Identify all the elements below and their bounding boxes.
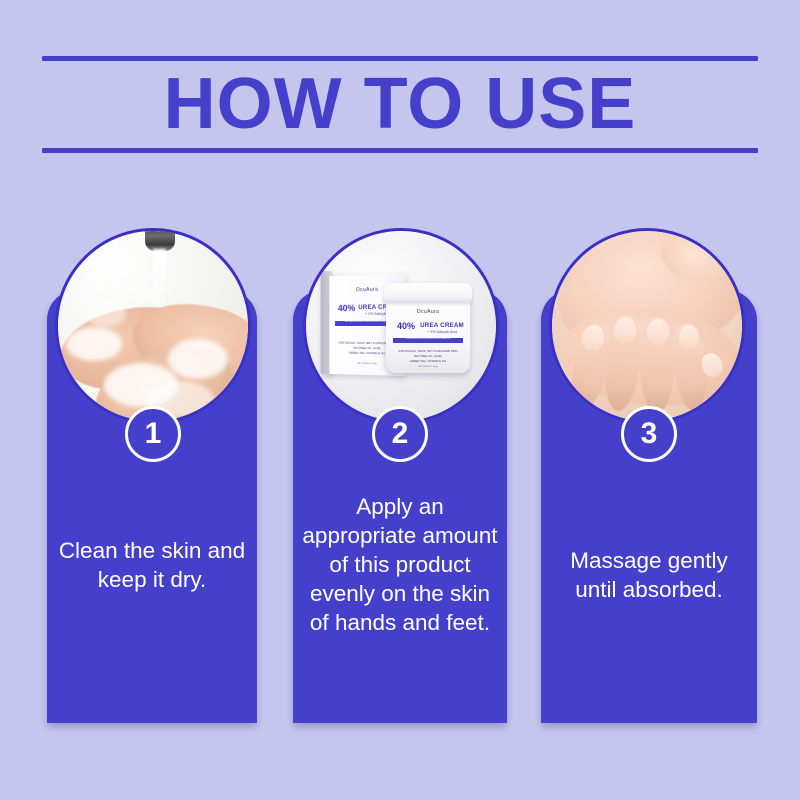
foam-blob <box>86 301 126 327</box>
fingernail <box>647 319 669 345</box>
wash-scene <box>58 231 248 421</box>
foam-blob <box>66 327 122 361</box>
step-caption-1: Clean the skin and keep it dry. <box>57 536 247 594</box>
step-number-badge-1: 1 <box>125 406 181 462</box>
jar-net-weight: NET WEIGHT 100g <box>389 366 467 368</box>
step-number-badge-2: 2 <box>372 406 428 462</box>
jar-brand-text: OcuAura <box>386 309 470 315</box>
step-image-1 <box>55 228 251 424</box>
box-percent-text: 40% <box>335 303 358 313</box>
jar-subtitle: + 2% Salicylic Acid <box>417 330 467 334</box>
jar-band-text: INTENSIVE MOISTURIZING & EXFOLIATING <box>393 338 463 340</box>
step-caption-3: Massage gently until absorbed. <box>551 546 747 604</box>
jar-product-name: UREA CREAM <box>417 322 467 329</box>
step-caption-2: Apply an appropriate amount of this prod… <box>299 492 501 637</box>
wash-hands-illustration <box>58 231 248 421</box>
jar-benefits-3: GREEN TEA, VITAMIN E OIL <box>389 359 467 363</box>
jar-benefits-2: TEA TREE OIL, ALOE, <box>389 354 467 358</box>
step-number-badge-3: 3 <box>621 406 677 462</box>
foam-blob <box>168 339 228 379</box>
infographic-poster: HOW TO USE <box>0 0 800 800</box>
jar-percent-text: 40% <box>394 321 418 331</box>
product-illustration: OcuAura 40% UREA CREAM + 2% Salicylic Ac… <box>306 231 496 421</box>
steps-container: OcuAura 40% UREA CREAM + 2% Salicylic Ac… <box>0 0 800 800</box>
product-jar-label: OcuAura 40% UREA CREAM + 2% Salicylic Ac… <box>386 293 470 373</box>
step-image-3 <box>549 228 745 424</box>
jar-benefits-1: FOR ROUGH, THICK, DRY & CRACKED SKIN <box>389 349 467 353</box>
faucet-icon <box>145 231 175 251</box>
massage-scene <box>552 231 742 421</box>
product-scene: OcuAura 40% UREA CREAM + 2% Salicylic Ac… <box>306 231 496 421</box>
massage-illustration <box>552 231 742 421</box>
step-image-2: OcuAura 40% UREA CREAM + 2% Salicylic Ac… <box>303 228 499 424</box>
